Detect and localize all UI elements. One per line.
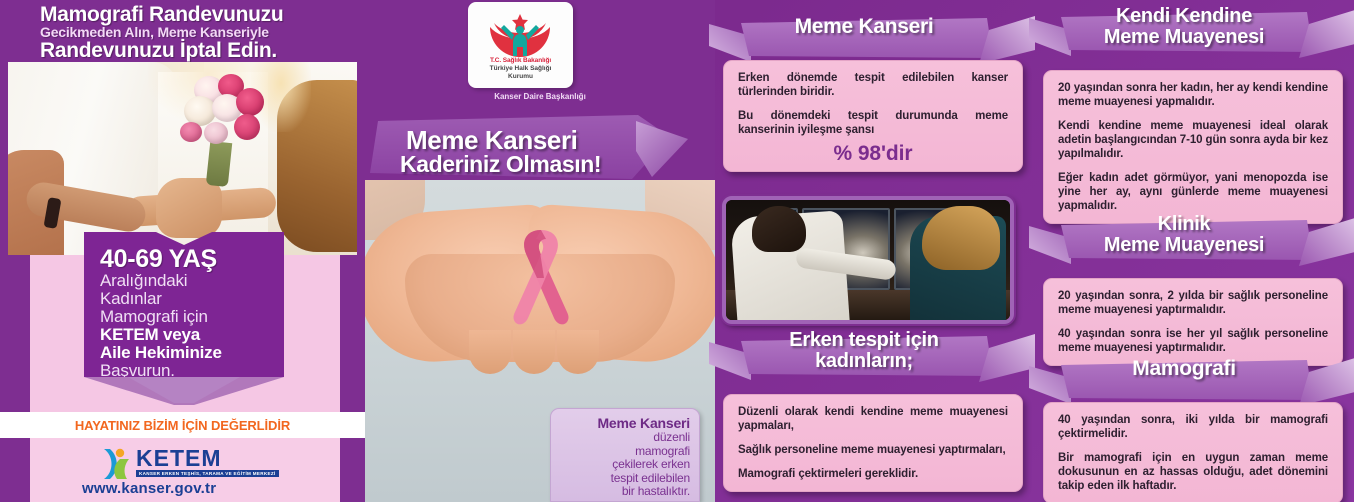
section-paragraph: Eğer kadın adet görmüyor, yani menopozda… (1058, 171, 1328, 213)
section-paragraph: Bir mamografi için en uygun zaman meme d… (1058, 451, 1328, 493)
ministry-line-2: Türkiye Halk Sağlığı (468, 65, 573, 73)
section-header: Klinik Meme Muayenesi (1043, 216, 1343, 262)
note-line-1: düzenli (560, 431, 690, 445)
couple-photo (8, 62, 357, 255)
note-line-4: tespit edilebilen (560, 472, 690, 486)
section-card: 20 yaşından sonra, 2 yılda bir sağlık pe… (1043, 278, 1343, 366)
ketem-swoosh-icon (100, 448, 134, 480)
section-card: 40 yaşından sonra, iki yılda bir mamogra… (1043, 402, 1343, 502)
ketem-logo: KETEM KANSER ERKEN TEŞHİS, TARAMA VE EĞİ… (100, 446, 320, 480)
section-paragraph: Bu dönemdeki tespit durumunda meme kanse… (738, 109, 1008, 137)
section-paragraph: Mamografi çektirmeleri gereklidir. (738, 467, 1008, 481)
section-title-line-2: kadınların; (723, 351, 1005, 372)
section-erken-tespit: Erken tespit için kadınların; Düzenli ol… (723, 332, 1023, 492)
section-title-line-2: Meme Muayenesi (1043, 235, 1325, 256)
section-kendi-kendine: Kendi Kendine Meme Muayenesi 20 yaşından… (1043, 8, 1343, 224)
section-title: Klinik (1043, 214, 1325, 235)
section-header: Erken tespit için kadınların; (723, 332, 1023, 378)
ministry-crescent-icon (486, 13, 554, 59)
section-paragraph: Düzenli olarak kendi kendine meme muayen… (738, 405, 1008, 433)
section-card: Erken dönemde tespit edilebilen kanser t… (723, 60, 1023, 172)
slogan-text: HAYATINIZ BİZİM İÇİN DEĞERLİDİR (75, 418, 290, 433)
note-line-2: mamografi (560, 445, 690, 459)
pink-ribbon-icon (510, 226, 572, 336)
left-panel: Mamografi Randevunuzu Gecikmeden Alın, M… (0, 0, 365, 502)
age-line-1: Aralığındaki (100, 272, 284, 290)
ministry-caption: Kanser Daire Başkanlığı (365, 92, 715, 101)
left-panel-title: Mamografi Randevunuzu Gecikmeden Alın, M… (0, 0, 365, 62)
section-title: Erken tespit için (723, 330, 1005, 351)
section-paragraph: Erken dönemde tespit edilebilen kanser t… (738, 71, 1008, 99)
section-meme-kanseri: Meme Kanseri Erken dönemde tespit edileb… (723, 14, 1023, 172)
meme-kanseri-note-card: Meme Kanseri düzenli mamografi çekilerek… (550, 408, 700, 502)
ministry-line-1: T.C. Sağlık Bakanlığı (468, 57, 573, 64)
section-title-line-2: Meme Muayenesi (1043, 27, 1325, 48)
section-header: Meme Kanseri (723, 14, 1023, 60)
ketem-url[interactable]: www.kanser.gov.tr (82, 480, 216, 497)
title-line-1: Mamografi Randevunuzu (40, 5, 359, 25)
section-paragraph: 20 yaşından sonra her kadın, her ay kend… (1058, 81, 1328, 109)
title-line-2: Gecikmeden Alın, Meme Kanseriyle (40, 25, 359, 40)
content-column-right: Kendi Kendine Meme Muayenesi 20 yaşından… (1035, 0, 1354, 502)
bouquet-flowers (160, 72, 276, 182)
age-range-card: 40-69 YAŞ Aralığındaki Kadınlar Mamograf… (84, 232, 284, 377)
section-paragraph: 40 yaşından sonra ise her yıl sağlık per… (1058, 327, 1328, 355)
section-title: Kendi Kendine (1043, 6, 1325, 27)
age-line-5: Aile Hekiminize (100, 344, 284, 362)
note-heading: Meme Kanseri (560, 416, 690, 431)
section-title: Mamografi (1132, 357, 1235, 380)
section-paragraph: 20 yaşından sonra, 2 yılda bir sağlık pe… (1058, 289, 1328, 317)
age-line-4: KETEM veya (100, 326, 284, 344)
note-line-5: bir hastalıktır. (560, 485, 690, 499)
middle-panel: T.C. Sağlık Bakanlığı Türkiye Halk Sağlı… (365, 0, 715, 502)
ministry-of-health-logo: T.C. Sağlık Bakanlığı Türkiye Halk Sağlı… (468, 2, 573, 88)
ketem-wordmark: KETEM (136, 446, 222, 470)
section-mamografi: Mamografi 40 yaşından sonra, iki yılda b… (1043, 356, 1343, 502)
ketem-logo-zone: KETEM KANSER ERKEN TEŞHİS, TARAMA VE EĞİ… (30, 438, 340, 502)
mammography-consultation-photo (722, 196, 1014, 324)
age-line-2: Kadınlar (100, 290, 284, 308)
section-card: Düzenli olarak kendi kendine meme muayen… (723, 394, 1023, 492)
age-headline: 40-69 YAŞ (100, 246, 284, 272)
age-line-3: Mamografi için (100, 308, 284, 326)
ketem-subtitle: KANSER ERKEN TEŞHİS, TARAMA VE EĞİTİM ME… (136, 470, 279, 477)
section-header: Mamografi (1043, 356, 1343, 402)
section-title: Meme Kanseri (795, 15, 934, 38)
section-highlight: % 98'dir (738, 147, 1008, 161)
slogan-bar: HAYATINIZ BİZİM İÇİN DEĞERLİDİR (0, 412, 365, 438)
ministry-line-3: Kurumu (468, 73, 573, 81)
section-paragraph: Kendi kendine meme muayenesi ideal olara… (1058, 119, 1328, 161)
note-line-3: çekilerek erken (560, 458, 690, 472)
title-line-3: Randevunuzu İptal Edin. (40, 40, 359, 61)
section-paragraph: 40 yaşından sonra, iki yılda bir mamogra… (1058, 413, 1328, 441)
banner-line-2: Kaderiniz Olmasın! (400, 151, 601, 178)
section-klinik: Klinik Meme Muayenesi 20 yaşından sonra,… (1043, 216, 1343, 366)
meme-kanseri-banner: Meme Kanseri Kaderiniz Olmasın! (370, 115, 670, 179)
poster-root: Mamografi Randevunuzu Gecikmeden Alın, M… (0, 0, 1354, 502)
section-card: 20 yaşından sonra her kadın, her ay kend… (1043, 70, 1343, 224)
section-paragraph: Sağlık personeline meme muayenesi yaptır… (738, 443, 1008, 457)
section-header: Kendi Kendine Meme Muayenesi (1043, 8, 1343, 54)
